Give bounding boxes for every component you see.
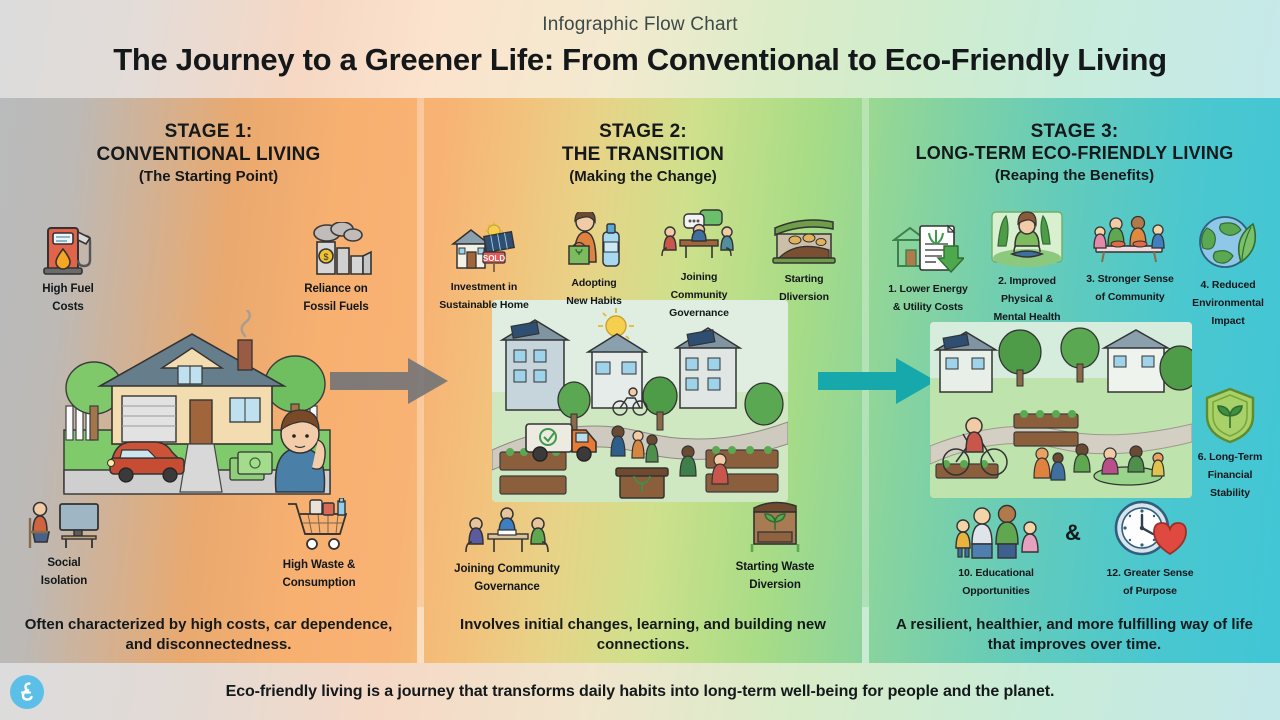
stage-3-line1: STAGE 3: (869, 120, 1280, 143)
svg-text:$: $ (323, 252, 328, 262)
stage-3-icon-benefit-3: 3. Stronger Senseof Community (1074, 212, 1186, 305)
stage-3-icon-benefit-4: 4. ReducedEnvironmentalImpact (1178, 214, 1278, 329)
stage-2-caption-5: Starting WasteDiversion (736, 561, 815, 591)
clock-heart-icon (1092, 500, 1208, 560)
stage-1-caption-2: SocialIsolation (41, 557, 87, 587)
compost-bin-plant-icon (716, 494, 834, 554)
globe-leaf-icon (1178, 214, 1278, 272)
stage-1-icon-high-fuel-costs: High FuelCosts (12, 218, 124, 315)
stage-2-heading: STAGE 2: THE TRANSITION (Making the Chan… (424, 120, 862, 187)
fuel-pump-icon (12, 218, 124, 276)
stage-2-note: Involves initial changes, learning, and … (424, 607, 862, 663)
infographic-root: Infographic Flow Chart The Journey to a … (0, 0, 1280, 720)
stage-3-icon-benefit-12: 12. Greater Senseof Purpose (1092, 500, 1208, 599)
stage-1-line2: CONVENTIONAL LIVING (0, 143, 417, 166)
stage-3-caption-0: 1. Lower Energy& Utility Costs (888, 283, 968, 313)
stage-1-caption-3: High Waste &Consumption (283, 559, 356, 589)
meeting-table-icon (643, 208, 755, 264)
stage-2-caption-1: AdoptingNew Habits (566, 277, 622, 307)
stage-2-line1: STAGE 2: (424, 120, 862, 143)
stage-1-heading: STAGE 1: CONVENTIONAL LIVING (The Starti… (0, 120, 417, 187)
stage-2-icon-joining-governance: JoiningCommunityGovernance (643, 208, 755, 321)
stage-3-scene (930, 322, 1192, 498)
stage-1-icon-high-waste: High Waste &Consumption (263, 498, 375, 591)
stage-2-icon-adopting-habits: AdoptingNew Habits (538, 212, 650, 309)
stage-2-icon-investment-home: SOLD Investment inSustainable Home (428, 222, 540, 313)
stage-3-icon-benefit-10: 10. EducationalOpportunities (938, 502, 1054, 599)
footer: Eco-friendly living is a journey that tr… (0, 663, 1280, 720)
meditation-nature-icon (978, 206, 1076, 268)
shield-plant-icon (1180, 386, 1280, 444)
svg-text:SOLD: SOLD (483, 254, 505, 263)
stage-3-caption-4: 6. Long-TermFinancialStability (1198, 451, 1263, 499)
stage-2-caption-3: StartingDliversion (779, 273, 829, 303)
stage-2-caption-0: Investment inSustainable Home (439, 281, 528, 311)
stage-1-caption-1: Reliance onFossil Fuels (303, 283, 368, 313)
stage-3-line3: (Reaping the Benefits) (869, 165, 1280, 186)
family-group-icon (938, 502, 1054, 560)
page-title: The Journey to a Greener Life: From Conv… (0, 42, 1280, 78)
stage-3-icon-benefit-2: 2. ImprovedPhysical &Mental Health (978, 206, 1076, 325)
stage-2-icon-starting-waste-diversion: Starting WasteDiversion (716, 494, 834, 593)
stage-2-line3: (Making the Change) (424, 166, 862, 187)
shopping-cart-icon (263, 498, 375, 552)
stage-1-icon-reliance-fossil-fuels: $ Reliance onFossil Fuels (280, 222, 392, 315)
stage-3-caption-5: 10. EducationalOpportunities (958, 567, 1034, 597)
meeting-table-icon (444, 500, 570, 556)
stage-3-line2: LONG-TERM ECO-FRIENDLY LIVING (869, 143, 1280, 165)
logo-badge-icon (10, 675, 44, 709)
stage-2-icon-starting-diversion: StartingDliversion (748, 216, 860, 305)
stage-3-heading: STAGE 3: LONG-TERM ECO-FRIENDLY LIVING (… (869, 120, 1280, 186)
stage-1-icon-social-isolation: SocialIsolation (8, 500, 120, 589)
stage-3-caption-6: 12. Greater Senseof Purpose (1106, 567, 1193, 597)
stage-3-caption-2: 3. Stronger Senseof Community (1086, 273, 1174, 303)
stage-1-line1: STAGE 1: (0, 120, 417, 143)
compost-bin-open-icon (748, 216, 860, 266)
footer-caption: Eco-friendly living is a journey that tr… (44, 683, 1280, 701)
stage-2-caption-4: Joining CommunityGovernance (454, 563, 560, 593)
community-table-icon (1074, 212, 1186, 266)
house-bill-down-arrow-icon (872, 220, 984, 276)
stage-3-note: A resilient, healthier, and more fulfill… (869, 607, 1280, 663)
solar-house-sold-icon: SOLD (428, 222, 540, 274)
stage-1-line3: (The Starting Point) (0, 166, 417, 187)
note-separator-1 (417, 607, 424, 663)
stage-2-scene (492, 300, 788, 502)
stage-2-line2: THE TRANSITION (424, 143, 862, 166)
stage-3-icon-benefit-1: 1. Lower Energy& Utility Costs (872, 220, 984, 315)
person-tv-icon (8, 500, 120, 550)
stage-2-icon-joining-governance-bottom: Joining CommunityGovernance (444, 500, 570, 595)
stage-2-caption-2: JoiningCommunityGovernance (669, 271, 729, 319)
kicker-label: Infographic Flow Chart (0, 14, 1280, 36)
stage-1-note: Often characterized by high costs, car d… (0, 607, 417, 663)
factory-smoke-icon: $ (280, 222, 392, 276)
header: Infographic Flow Chart The Journey to a … (0, 0, 1280, 98)
stage-3-caption-3: 4. ReducedEnvironmentalImpact (1192, 279, 1264, 327)
reusable-bag-bottle-icon (538, 212, 650, 270)
stage-3-icon-benefit-6: 6. Long-TermFinancialStability (1180, 386, 1280, 501)
note-separator-2 (862, 607, 869, 663)
stage-3-caption-1: 2. ImprovedPhysical &Mental Health (994, 275, 1061, 323)
stage-1-scene (52, 310, 342, 500)
ampersand-separator: & (1065, 520, 1081, 546)
stage-1-caption-0: High FuelCosts (42, 283, 94, 313)
